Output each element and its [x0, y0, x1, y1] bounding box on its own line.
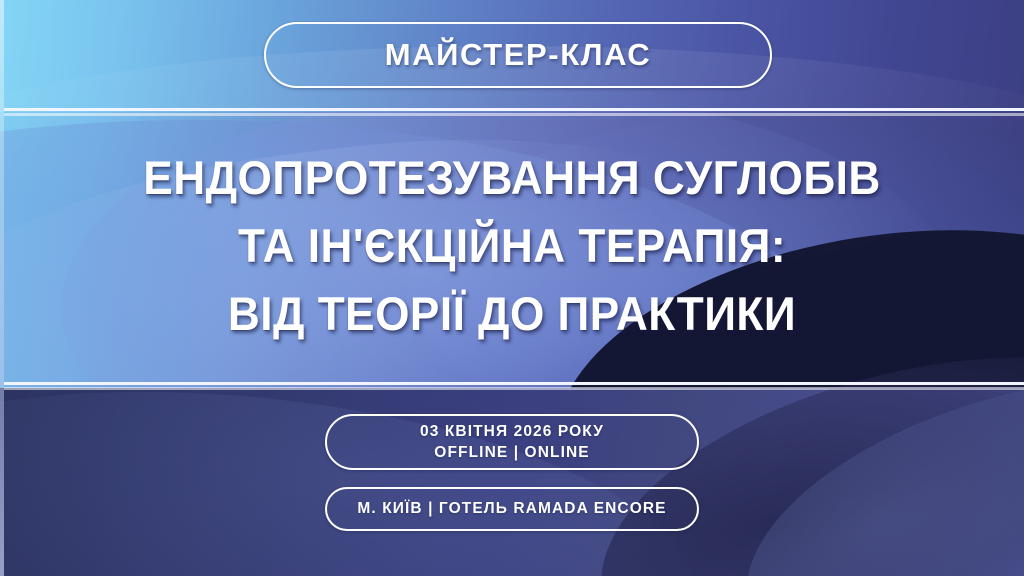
venue-badge: М. КИЇВ | ГОТЕЛЬ RAMADA ENCORE	[325, 487, 699, 531]
masterclass-badge-label: МАЙСТЕР-КЛАС	[385, 37, 652, 73]
event-poster: МАЙСТЕР-КЛАС ЕНДОПРОТЕЗУВАННЯ СУГЛОБІВ Т…	[0, 0, 1024, 576]
title-line-2: ТА ІН'ЄКЦІЙНА ТЕРАПІЯ:	[31, 212, 994, 280]
date-badge: 03 КВІТНЯ 2026 РОКУ OFFLINE | ONLINE	[325, 414, 699, 470]
masterclass-badge: МАЙСТЕР-КЛАС	[264, 22, 772, 88]
title-line-3: ВІД ТЕОРІЇ ДО ПРАКТИКИ	[31, 280, 994, 348]
event-date-label: 03 КВІТНЯ 2026 РОКУ	[420, 423, 604, 441]
event-venue-label: М. КИЇВ | ГОТЕЛЬ RAMADA ENCORE	[357, 500, 666, 518]
page-title: ЕНДОПРОТЕЗУВАННЯ СУГЛОБІВ ТА ІН'ЄКЦІЙНА …	[0, 144, 1024, 348]
event-format-label: OFFLINE | ONLINE	[434, 444, 589, 462]
title-line-1: ЕНДОПРОТЕЗУВАННЯ СУГЛОБІВ	[31, 144, 994, 212]
